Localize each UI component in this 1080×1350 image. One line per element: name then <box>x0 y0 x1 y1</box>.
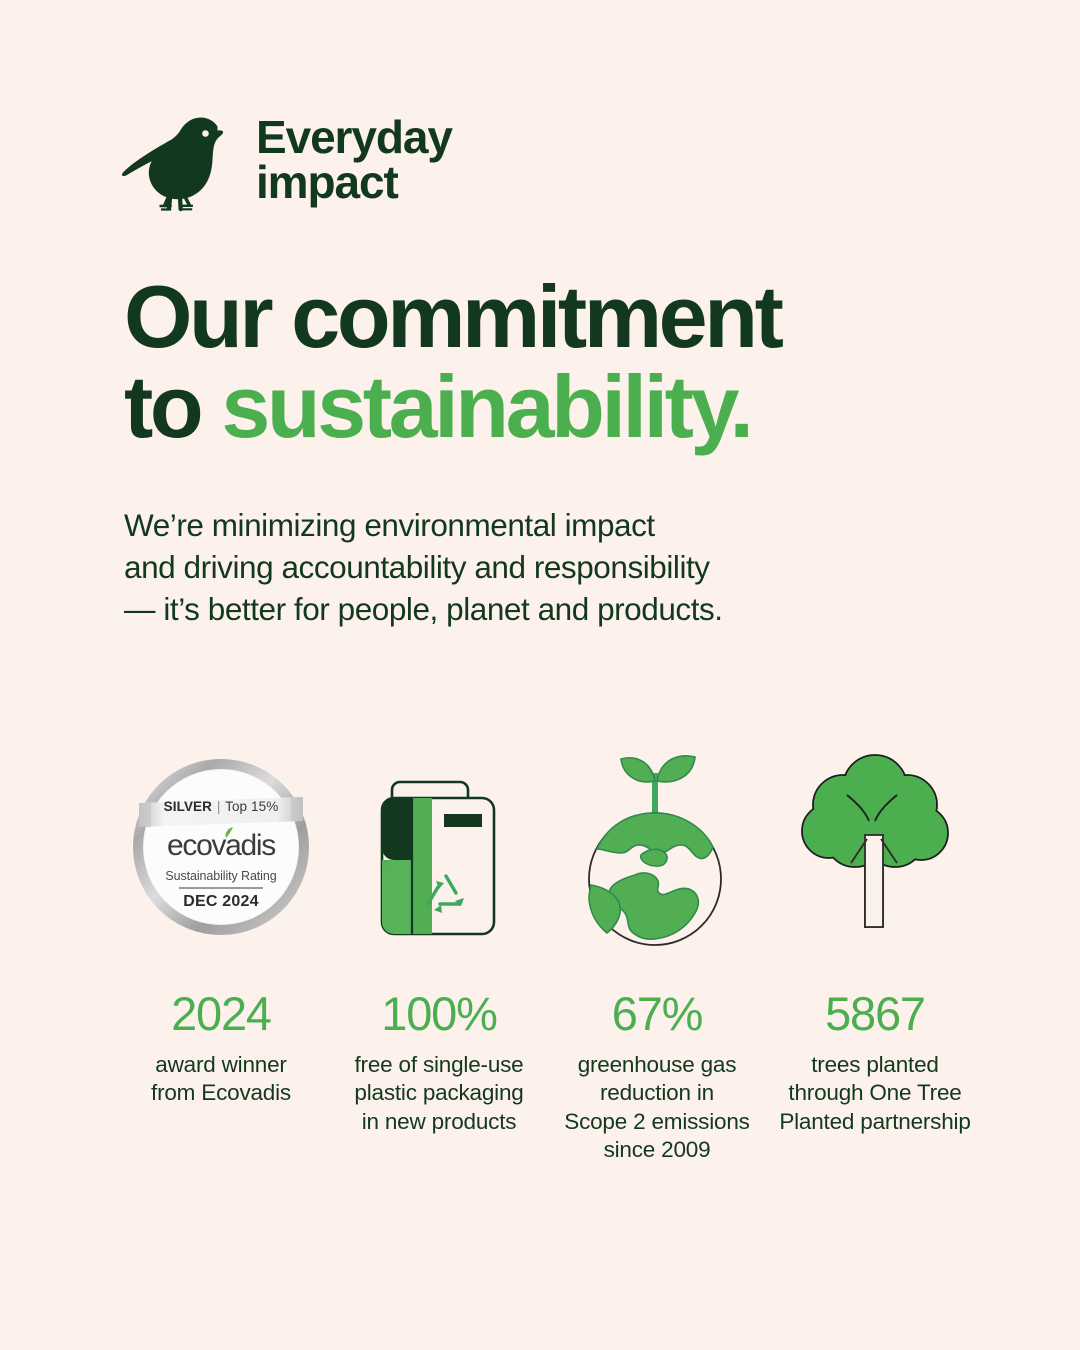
ecovadis-date: DEC 2024 <box>133 893 309 911</box>
stat-value: 5867 <box>825 990 925 1037</box>
ecovadis-subtitle: Sustainability Rating <box>133 869 309 883</box>
intro-line-3: — it’s better for people, planet and pro… <box>124 589 924 631</box>
ecovadis-leaf-icon <box>225 827 234 838</box>
caption-line: greenhouse gas <box>564 1051 749 1079</box>
stat-value: 100% <box>381 990 496 1037</box>
ecovadis-wordmark: ecovadis <box>133 829 309 863</box>
intro-line-2: and driving accountability and responsib… <box>124 547 924 589</box>
caption-line: in new products <box>354 1108 523 1136</box>
globe-sprout-icon <box>567 737 747 957</box>
ecovadis-separator: | <box>216 799 222 814</box>
stat-icon-slot <box>766 722 984 972</box>
ecovadis-medal-icon: SILVER | Top 15% ecovadis Sustainability… <box>133 759 309 935</box>
stat-caption: trees planted through One Tree Planted p… <box>779 1051 970 1136</box>
caption-line: Scope 2 emissions <box>564 1108 749 1136</box>
infographic-page: Everyday impact Our commitment to sustai… <box>0 0 1080 1350</box>
intro-line-1: We’re minimizing environmental impact <box>124 505 924 547</box>
stat-plastic-free-packaging: 100% free of single-use plastic packagin… <box>330 722 548 1164</box>
caption-line: reduction in <box>564 1079 749 1107</box>
stat-value: 67% <box>612 990 702 1037</box>
caption-line: Planted partnership <box>779 1108 970 1136</box>
caption-line: trees planted <box>779 1051 970 1079</box>
stat-icon-slot: SILVER | Top 15% ecovadis Sustainability… <box>112 722 330 972</box>
recyclable-packaging-icon <box>364 752 514 942</box>
caption-line: from Ecovadis <box>151 1079 291 1107</box>
stat-caption: free of single-use plastic packaging in … <box>354 1051 523 1136</box>
stat-icon-slot <box>330 722 548 972</box>
tree-icon <box>785 747 965 947</box>
ecovadis-tier-line: SILVER | Top 15% <box>133 799 309 814</box>
headline-line-1: Our commitment <box>124 267 781 366</box>
brand-wordmark: Everyday impact <box>256 115 452 205</box>
bird-icon <box>122 108 234 212</box>
stat-caption: award winner from Ecovadis <box>151 1051 291 1108</box>
stat-value: 2024 <box>171 990 271 1037</box>
ecovadis-rank: Top 15% <box>225 799 278 814</box>
headline-accent: sustainability. <box>221 357 750 456</box>
stat-trees-planted: 5867 trees planted through One Tree Plan… <box>766 722 984 1164</box>
intro-paragraph: We’re minimizing environmental impact an… <box>124 505 924 631</box>
page-title: Our commitment to sustainability. <box>124 272 1004 452</box>
caption-line: plastic packaging <box>354 1079 523 1107</box>
ecovadis-badge-text: SILVER | Top 15% ecovadis Sustainability… <box>133 759 309 935</box>
stats-grid: SILVER | Top 15% ecovadis Sustainability… <box>112 722 984 1164</box>
caption-line: since 2009 <box>564 1136 749 1164</box>
stat-ecovadis-award: SILVER | Top 15% ecovadis Sustainability… <box>112 722 330 1164</box>
brand-logo: Everyday impact <box>122 108 452 212</box>
caption-line: free of single-use <box>354 1051 523 1079</box>
ecovadis-tier: SILVER <box>164 799 212 814</box>
stat-caption: greenhouse gas reduction in Scope 2 emis… <box>564 1051 749 1164</box>
caption-line: through One Tree <box>779 1079 970 1107</box>
brand-name-line2: impact <box>256 160 452 205</box>
caption-line: award winner <box>151 1051 291 1079</box>
stat-ghg-reduction: 67% greenhouse gas reduction in Scope 2 … <box>548 722 766 1164</box>
ecovadis-divider <box>179 887 263 889</box>
stat-icon-slot <box>548 722 766 972</box>
headline-line-2-prefix: to <box>124 357 221 456</box>
